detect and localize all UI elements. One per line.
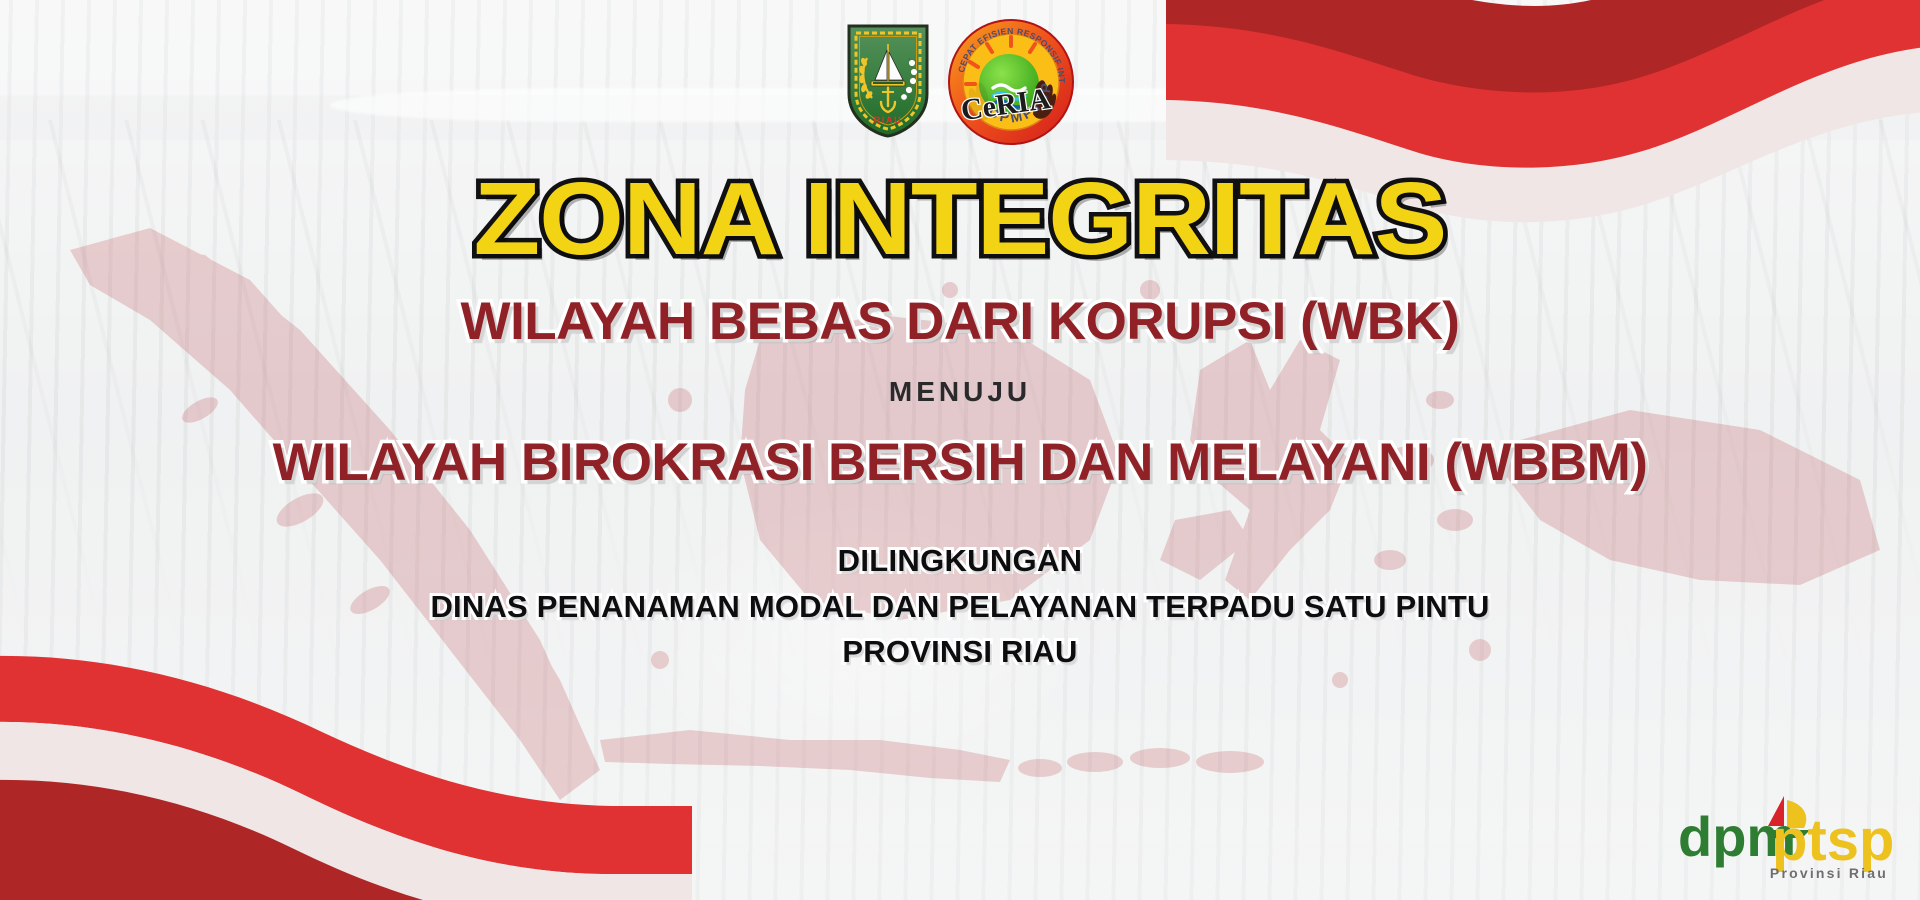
dpmptsp-tagline: Provinsi Riau: [1770, 865, 1888, 881]
organization-block: DILINGKUNGAN DINAS PENANAMAN MODAL DAN P…: [430, 545, 1489, 669]
label-menuju: MENUJU: [889, 378, 1031, 406]
dpmptsp-logo: dpm ptsp Provinsi Riau: [1664, 782, 1896, 886]
ceria-seal-icon: CEPAT EFISIEN RESPONSIF INTEGRITAS AKUNT…: [947, 18, 1075, 146]
org-scope-label: DILINGKUNGAN: [430, 545, 1489, 578]
subtitle-wbbm: WILAYAH BIROKRASI BERSIH DAN MELAYANI (W…: [273, 436, 1648, 489]
subtitle-wbk: WILAYAH BEBAS DARI KORUPSI (WBK): [461, 295, 1460, 348]
riau-coat-of-arms-icon: RIAU: [845, 22, 931, 140]
riau-emblem-caption: RIAU: [874, 115, 902, 125]
banner-content: RIAU: [0, 0, 1920, 900]
ptsp-wordmark: ptsp: [1772, 808, 1894, 873]
emblem-row: RIAU: [845, 22, 1075, 152]
zona-integritas-banner: RIAU: [0, 0, 1920, 900]
org-name: DINAS PENANAMAN MODAL DAN PELAYANAN TERP…: [430, 591, 1489, 624]
org-province: PROVINSI RIAU: [430, 636, 1489, 669]
page-title: ZONA INTEGRITAS: [474, 170, 1447, 269]
